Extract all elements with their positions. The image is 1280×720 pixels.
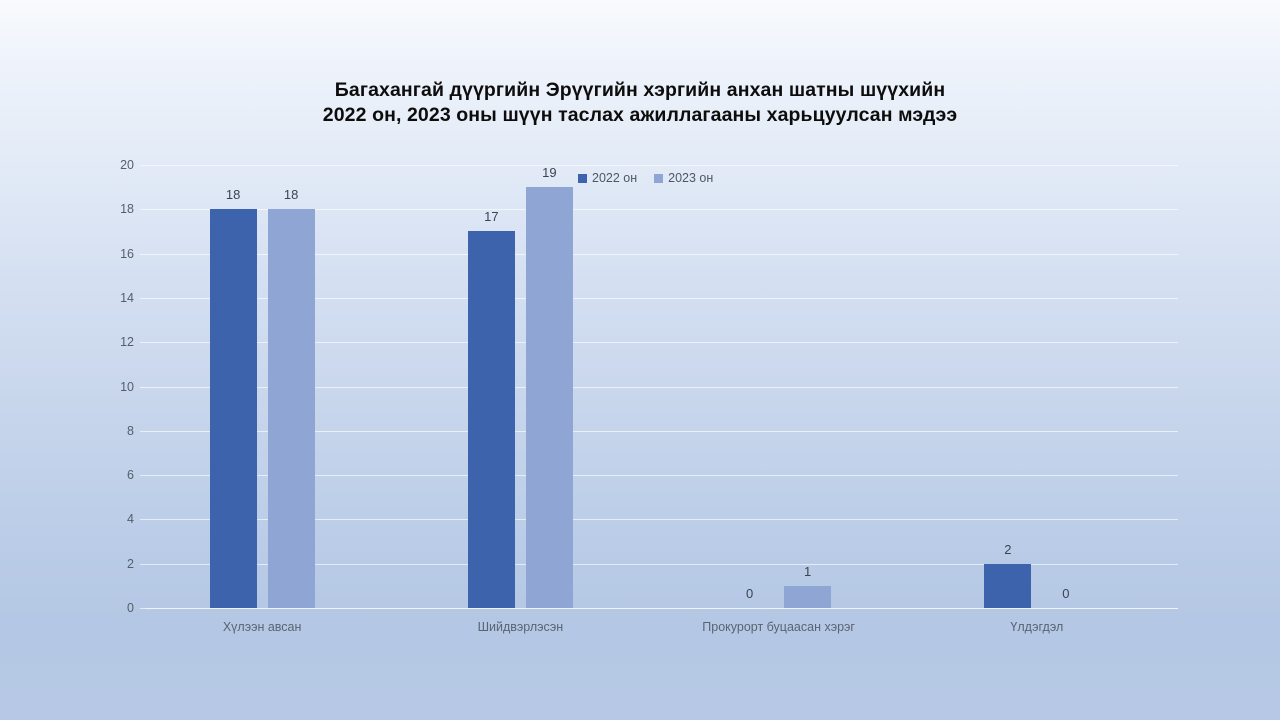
y-axis-tick	[140, 209, 145, 210]
gridline	[145, 608, 1178, 609]
bar-value-label: 0	[746, 586, 753, 601]
bar-value-label: 18	[284, 187, 298, 202]
y-axis-tick	[140, 608, 145, 609]
y-axis-label: 4	[127, 512, 134, 526]
y-axis-tick	[140, 519, 145, 520]
chart-title-line-2: 2022 он, 2023 оны шүүн таслах ажиллагаан…	[0, 103, 1280, 128]
bar-value-label: 17	[484, 209, 498, 224]
y-axis-tick	[140, 165, 145, 166]
bar-value-label: 0	[1062, 586, 1069, 601]
y-axis-tick	[140, 387, 145, 388]
bar[interactable]	[268, 209, 315, 608]
y-axis-label: 2	[127, 557, 134, 571]
y-axis-tick	[140, 475, 145, 476]
bar-value-label: 19	[542, 165, 556, 180]
bar[interactable]	[468, 231, 515, 608]
x-axis-category-label: Прокурорт буцаасан хэрэг	[702, 620, 855, 634]
chart-title-line-1: Багахангай дүүргийн Эрүүгийн хэргийн анх…	[0, 78, 1280, 103]
bar-value-label: 2	[1004, 542, 1011, 557]
y-axis-label: 16	[120, 247, 134, 261]
bar-value-label: 1	[804, 564, 811, 579]
y-axis-label: 20	[120, 158, 134, 172]
y-axis-label: 0	[127, 601, 134, 615]
x-axis-category-label: Шийдвэрлэсэн	[478, 620, 564, 634]
y-axis-label: 6	[127, 468, 134, 482]
plot-area: 024681012141618201818Хүлээн авсан1719Ший…	[145, 165, 1178, 608]
y-axis-tick	[140, 254, 145, 255]
y-axis-tick	[140, 342, 145, 343]
chart-title: Багахангай дүүргийн Эрүүгийн хэргийн анх…	[0, 78, 1280, 128]
bar[interactable]	[526, 187, 573, 608]
y-axis-tick	[140, 298, 145, 299]
bar[interactable]	[210, 209, 257, 608]
bar[interactable]	[784, 586, 831, 608]
gridline	[145, 165, 1178, 166]
y-axis-label: 12	[120, 335, 134, 349]
x-axis-category-label: Хүлээн авсан	[223, 620, 302, 634]
y-axis-label: 10	[120, 380, 134, 394]
y-axis-tick	[140, 431, 145, 432]
y-axis-label: 18	[120, 202, 134, 216]
chart-container: Багахангай дүүргийн Эрүүгийн хэргийн анх…	[0, 0, 1280, 720]
bar-value-label: 18	[226, 187, 240, 202]
y-axis-tick	[140, 564, 145, 565]
bar[interactable]	[984, 564, 1031, 608]
x-axis-category-label: Үлдэгдэл	[1010, 620, 1063, 634]
y-axis-label: 14	[120, 291, 134, 305]
y-axis-label: 8	[127, 424, 134, 438]
